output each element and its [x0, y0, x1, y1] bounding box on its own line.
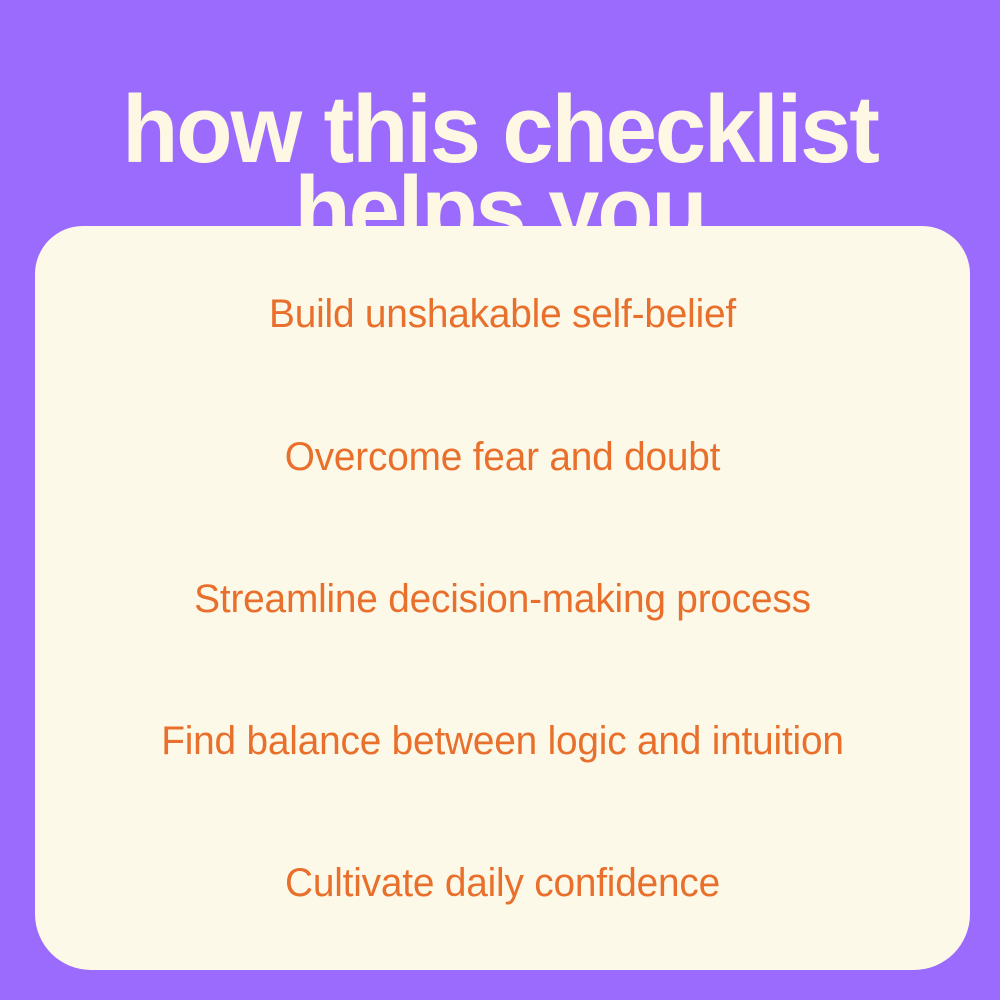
poster-canvas: how this checklist helps you Build unsha…	[0, 0, 1000, 1000]
checklist: Build unshakable self-belief Overcome fe…	[35, 226, 970, 970]
checklist-card: Build unshakable self-belief Overcome fe…	[35, 226, 970, 970]
list-item: Find balance between logic and intuition	[49, 721, 956, 761]
list-item: Streamline decision-making process	[49, 579, 956, 619]
list-item: Cultivate daily confidence	[49, 863, 956, 903]
list-item: Build unshakable self-belief	[49, 294, 956, 334]
list-item: Overcome fear and doubt	[49, 437, 956, 477]
